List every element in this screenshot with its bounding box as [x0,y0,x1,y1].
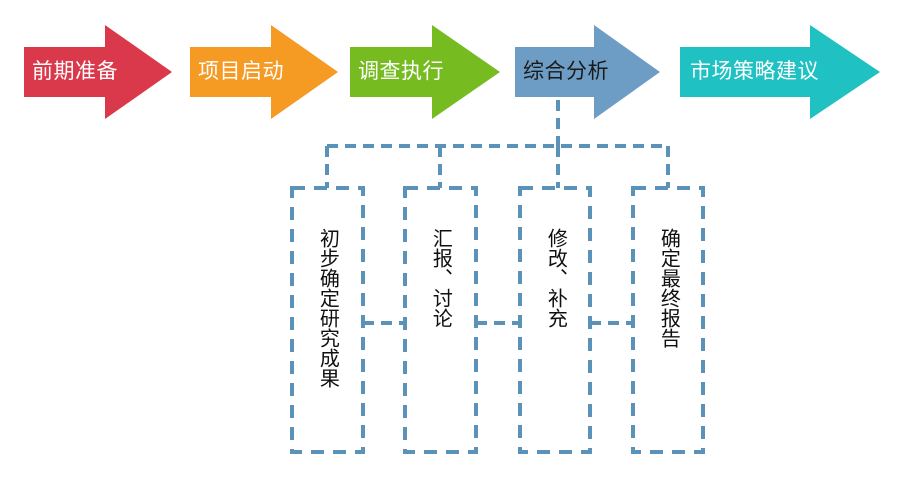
subtask-box-group [292,188,703,452]
subtask-label-1: 初步确定研究成果 [317,228,337,388]
subtask-label-2: 汇报、讨论 [430,228,450,328]
stage-arrow-5[interactable] [680,25,880,119]
stage-arrow-4[interactable] [515,25,660,119]
subtask-label-3: 修改、补充 [545,228,565,328]
diagram-canvas: 前期准备 项目启动 调查执行 综合分析 市场策略建议 初步确定研究成果 汇报、讨… [0,0,900,480]
stage-arrow-group [24,25,880,119]
stage-arrow-2[interactable] [190,25,338,119]
stage-arrow-1[interactable] [24,25,172,119]
subtask-label-4: 确定最终报告 [658,228,678,348]
connector-group [327,100,668,323]
stage-arrow-3[interactable] [350,25,500,119]
